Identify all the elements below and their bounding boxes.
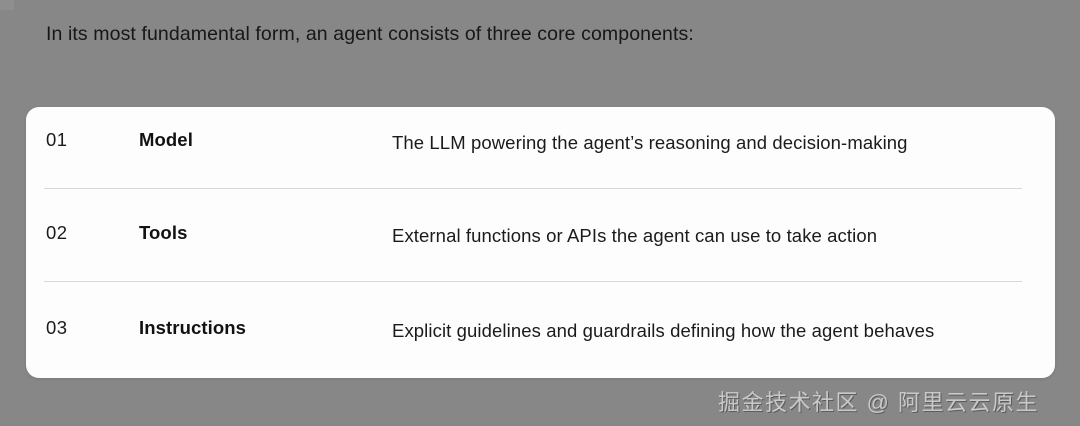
component-description: External functions or APIs the agent can… [392, 222, 1035, 250]
list-item: 02 Tools External functions or APIs the … [26, 188, 1055, 281]
component-number: 03 [46, 317, 67, 339]
component-number: 02 [46, 222, 67, 244]
corner-highlight [0, 0, 14, 10]
component-number: 01 [46, 129, 67, 151]
list-item: 01 Model The LLM powering the agent’s re… [26, 107, 1055, 188]
component-description: The LLM powering the agent’s reasoning a… [392, 129, 1035, 157]
component-name: Model [139, 129, 193, 151]
components-list: 01 Model The LLM powering the agent’s re… [26, 107, 1055, 378]
list-item: 03 Instructions Explicit guidelines and … [26, 281, 1055, 378]
component-description: Explicit guidelines and guardrails defin… [392, 317, 1035, 345]
component-name: Tools [139, 222, 187, 244]
intro-paragraph: In its most fundamental form, an agent c… [46, 21, 694, 47]
component-name: Instructions [139, 317, 246, 339]
components-card: 01 Model The LLM powering the agent’s re… [26, 107, 1055, 378]
watermark: 掘金技术社区 @ 阿里云云原生 [718, 388, 1039, 418]
